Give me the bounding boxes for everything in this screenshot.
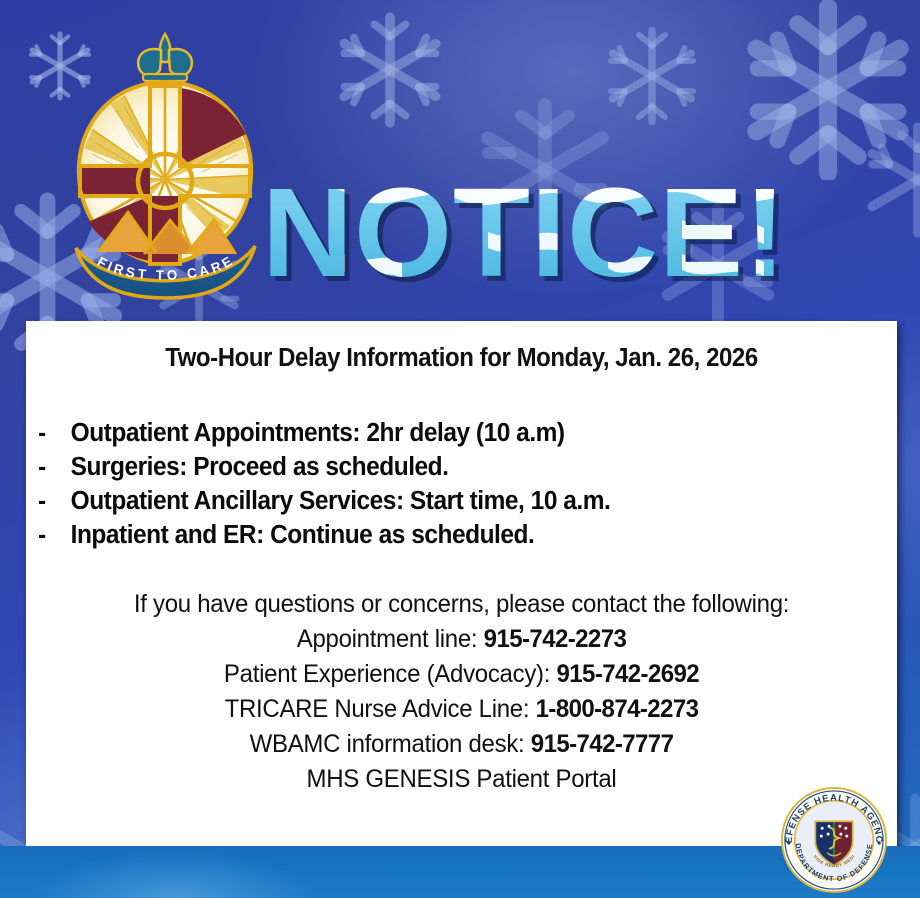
- contact-row-mhs-genesis-portal: MHS GENESIS Patient Portal: [43, 762, 879, 797]
- list-item: - Inpatient and ER: Continue as schedule…: [38, 519, 863, 553]
- bullet-marker: -: [38, 451, 71, 485]
- notice-headline: NOTICE! NOTICE! NOTICE!: [252, 158, 872, 308]
- contact-label: WBAMC information desk:: [250, 730, 531, 758]
- contact-block: If you have questions or concerns, pleas…: [26, 587, 897, 797]
- list-item: - Outpatient Ancillary Services: Start t…: [38, 485, 863, 519]
- list-item: - Outpatient Appointments: 2hr delay (10…: [38, 417, 863, 451]
- contact-number: 1-800-874-2273: [536, 695, 699, 723]
- list-item: - Surgeries: Proceed as scheduled.: [38, 451, 863, 485]
- card-heading: Two-Hour Delay Information for Monday, J…: [52, 321, 871, 373]
- notice-poster: FIRST TO CARE NOTICE! NOTICE! NOTICE!: [0, 0, 920, 898]
- bullet-text: Surgeries: Proceed as scheduled.: [71, 451, 863, 485]
- contact-row-appointment-line: Appointment line: 915-742-2273: [43, 622, 879, 657]
- contact-row-patient-experience: Patient Experience (Advocacy): 915-742-2…: [43, 657, 879, 692]
- contact-label: Appointment line:: [297, 625, 484, 653]
- bullet-text: Outpatient Appointments: 2hr delay (10 a…: [71, 417, 863, 451]
- bullet-marker: -: [38, 417, 71, 451]
- contact-number: 915-742-2692: [557, 660, 700, 688]
- contact-label: TRICARE Nurse Advice Line:: [225, 695, 536, 723]
- contact-row-tricare-nurse-advice: TRICARE Nurse Advice Line: 1-800-874-227…: [43, 692, 879, 727]
- contact-number: 915-742-7777: [531, 730, 674, 758]
- bullet-text: Outpatient Ancillary Services: Start tim…: [71, 485, 863, 519]
- contact-label: Patient Experience (Advocacy):: [224, 660, 557, 688]
- wbamc-crest-logo: FIRST TO CARE: [58, 30, 273, 302]
- contact-intro: If you have questions or concerns, pleas…: [43, 587, 879, 622]
- info-card: Two-Hour Delay Information for Monday, J…: [26, 321, 897, 873]
- bullet-marker: -: [38, 485, 71, 519]
- defense-health-agency-seal: DEFENSE HEALTH AGENCY DEPARTMENT OF DEFE…: [780, 786, 888, 894]
- delay-bullet-list: - Outpatient Appointments: 2hr delay (10…: [26, 373, 897, 553]
- contact-number: 915-742-2273: [484, 625, 627, 653]
- bullet-text: Inpatient and ER: Continue as scheduled.: [71, 519, 863, 553]
- contact-label: MHS GENESIS Patient Portal: [307, 765, 617, 793]
- bottom-glow: [37, 852, 313, 898]
- contact-row-wbamc-info-desk: WBAMC information desk: 915-742-7777: [43, 727, 879, 762]
- bullet-marker: -: [38, 519, 71, 553]
